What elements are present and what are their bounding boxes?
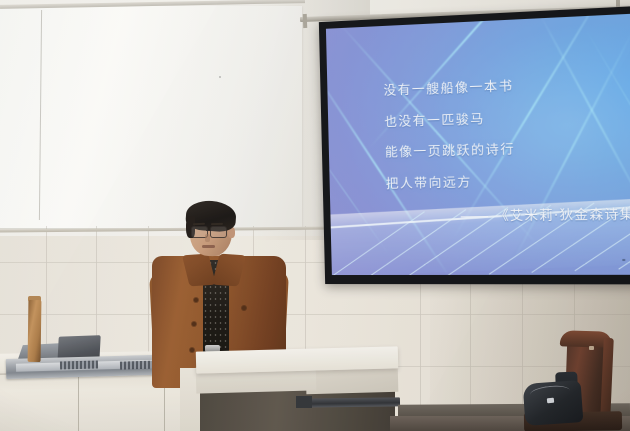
poem-line-2: 也没有一匹骏马 xyxy=(384,108,628,128)
eyebrow-right xyxy=(211,223,223,225)
whiteboard xyxy=(0,6,302,228)
bag-tag xyxy=(547,398,554,404)
attribution-dash-icon xyxy=(461,216,488,218)
slide-attribution: 《艾米莉·狄金森诗集》 xyxy=(460,202,630,224)
glasses-bridge xyxy=(206,230,211,231)
whiteboard-speck xyxy=(219,76,221,78)
screen-indicator-dot xyxy=(622,259,625,261)
screen-display-area: 没有一艘船像一本书 也没有一匹骏马 能像一页跳跃的诗行 把人带向远方 《艾米莉·… xyxy=(326,13,630,275)
projection-screen[interactable]: 没有一艘船像一本书 也没有一匹骏马 能像一页跳跃的诗行 把人带向远方 《艾米莉·… xyxy=(319,6,630,285)
rail-bracket-left xyxy=(303,14,307,28)
attribution-text: 《艾米莉·狄金森诗集》 xyxy=(495,206,630,224)
jacket-button xyxy=(190,348,194,352)
glasses-lens-right xyxy=(210,226,227,238)
poem-line-4: 把人带向远方 xyxy=(386,172,630,189)
av-keypad[interactable] xyxy=(60,360,98,369)
photo-scene: 没有一艘船像一本书 也没有一匹骏马 能像一页跳跃的诗行 把人带向远方 《艾米莉·… xyxy=(0,0,630,431)
poem-line-3: 能像一页跳跃的诗行 xyxy=(385,140,629,159)
podium-drawer-bracket xyxy=(296,396,312,408)
nose xyxy=(205,234,210,242)
slide-poem: 没有一艘船像一本书 也没有一匹骏马 能像一页跳跃的诗行 把人带向远方 xyxy=(383,75,630,208)
podium-drawer-slide[interactable] xyxy=(300,397,400,407)
chair-crest-nub xyxy=(589,346,594,350)
jacket-button xyxy=(192,322,196,326)
jacket-button xyxy=(194,298,198,302)
jacket-button xyxy=(242,306,246,310)
mouth xyxy=(202,245,215,248)
wooden-post xyxy=(28,300,42,362)
cabinet-seam xyxy=(78,374,79,431)
